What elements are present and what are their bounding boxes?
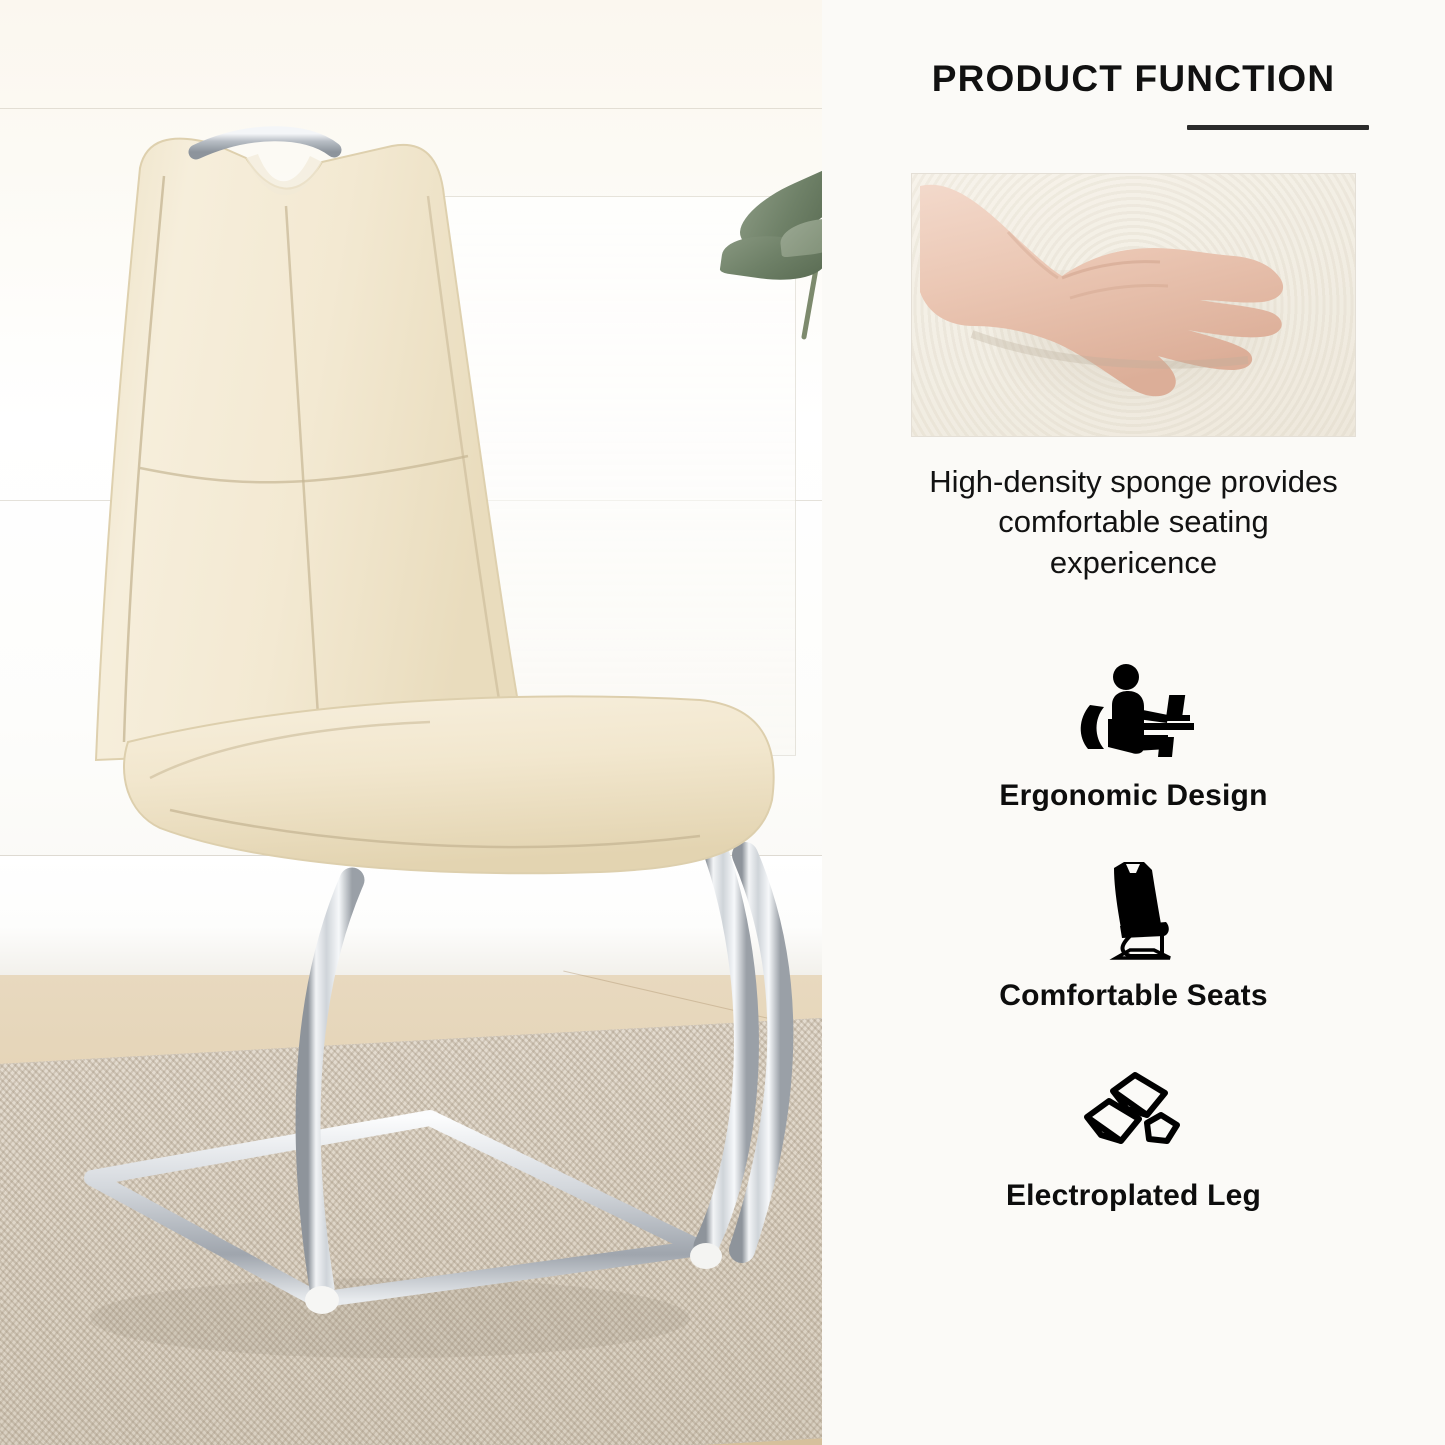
feature-label: Electroplated Leg	[822, 1179, 1445, 1213]
chair-front-leg	[308, 880, 352, 1288]
foam-caption: High-density sponge provides comfortable…	[919, 462, 1349, 583]
chair-rear-leg	[706, 852, 746, 1246]
feature-panel: PRODUCT FUNCTION	[822, 0, 1445, 1445]
person-seated-at-desk-icon	[822, 659, 1445, 763]
product-photo	[0, 0, 822, 1445]
feature-item-electroplated-leg: Electroplated Leg	[822, 1059, 1445, 1213]
metal-ingots-icon	[822, 1059, 1445, 1163]
floor-glide	[305, 1286, 339, 1314]
product-feature-page: PRODUCT FUNCTION	[0, 0, 1445, 1445]
feature-label: Ergonomic Design	[822, 779, 1445, 813]
foam-photo	[912, 174, 1355, 436]
feature-list: Ergonomic Design	[822, 659, 1445, 1213]
dining-chair	[0, 0, 822, 1445]
page-title: PRODUCT FUNCTION	[822, 58, 1445, 100]
feature-item-comfortable-seats: Comfortable Seats	[822, 859, 1445, 1013]
feature-item-ergonomic-design: Ergonomic Design	[822, 659, 1445, 813]
title-underline	[1187, 125, 1369, 130]
chrome-grab-handle	[196, 134, 334, 152]
feature-label: Comfortable Seats	[822, 979, 1445, 1013]
floor-glide	[690, 1243, 722, 1269]
chair-base-frame	[92, 1118, 700, 1300]
chair-silhouette-icon	[822, 859, 1445, 963]
